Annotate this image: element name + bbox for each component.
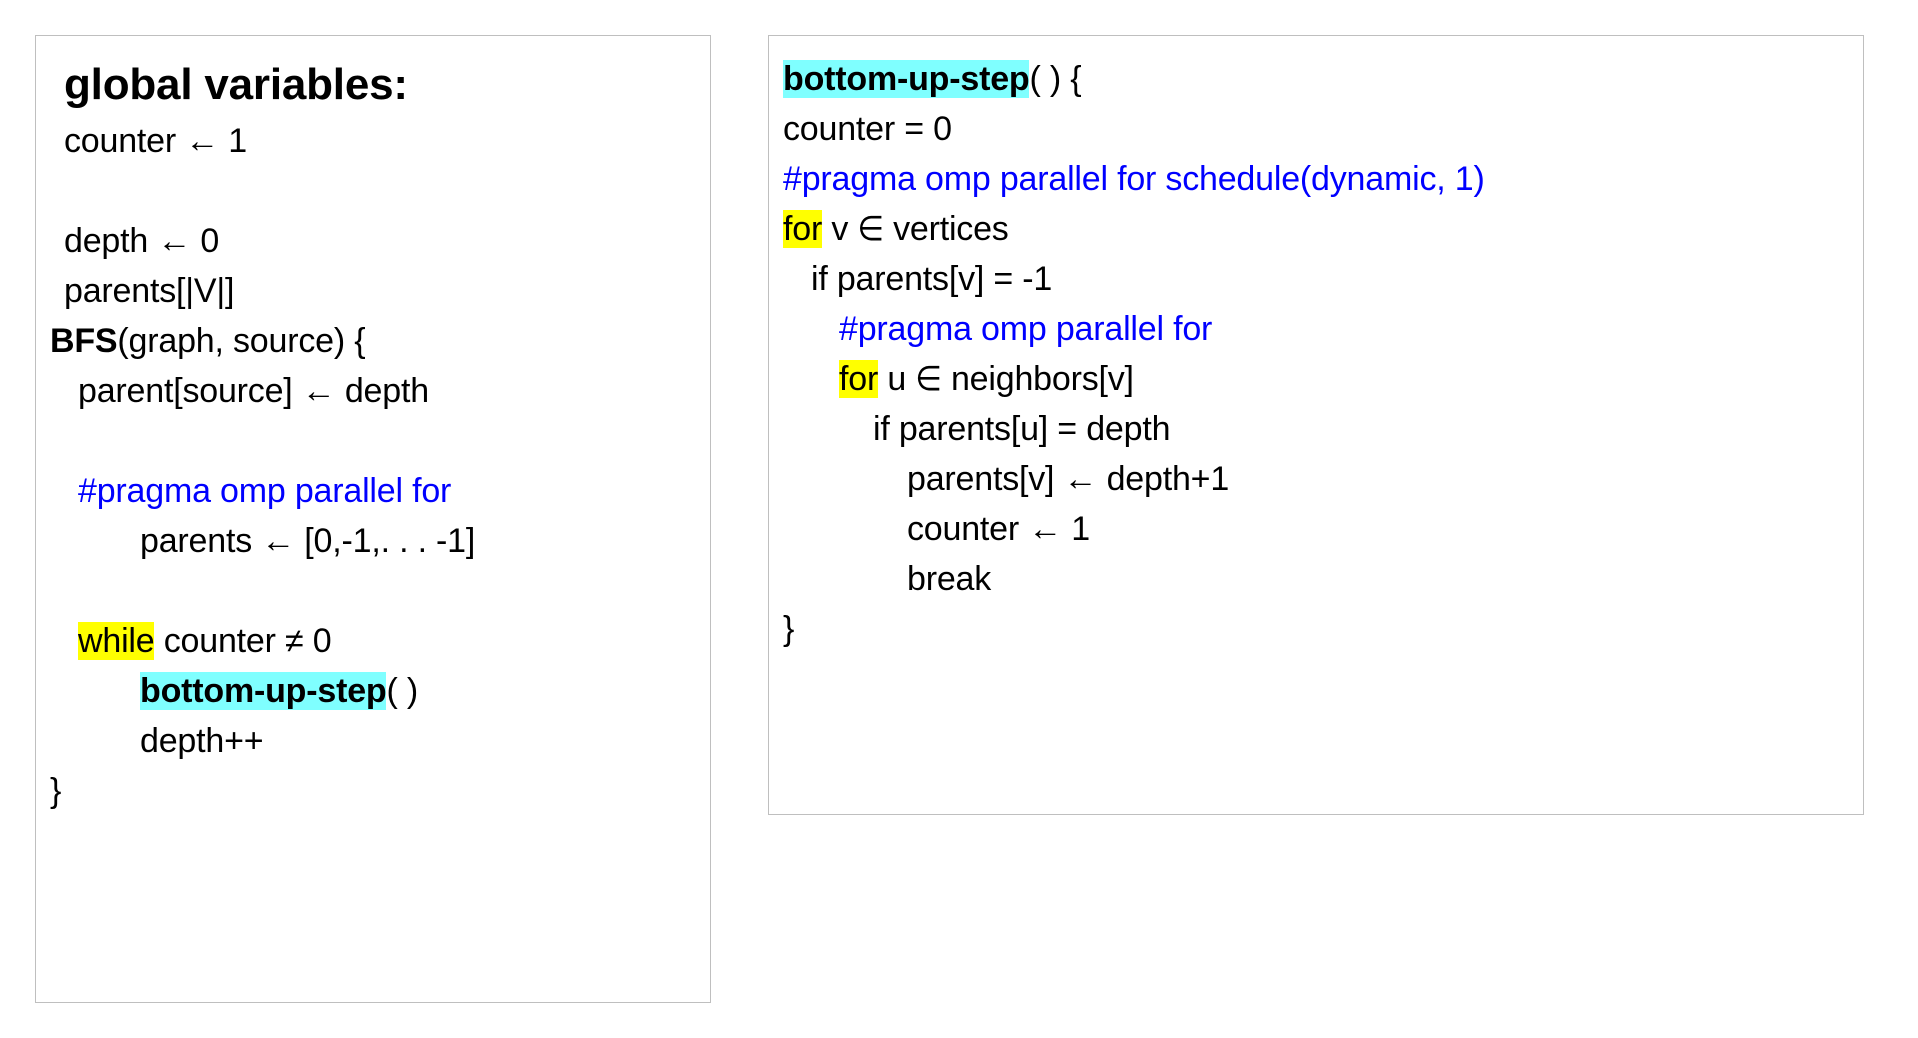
code-token: parent[source] ← depth: [78, 372, 429, 410]
code-line: break: [783, 554, 1853, 604]
bottom-up-step-code-block: bottom-up-step( ) {counter = 0#pragma om…: [769, 36, 1863, 664]
code-line: parents ← [0,-1,. . . -1]: [50, 516, 700, 566]
code-token: counter = 0: [783, 110, 952, 148]
code-line: }: [50, 766, 700, 816]
slide-root: global variables:counter ← 1 depth ← 0pa…: [0, 0, 1918, 1038]
code-line: depth++: [50, 716, 700, 766]
code-token: parents ← [0,-1,. . . -1]: [140, 522, 475, 560]
code-line: for v ∈ vertices: [783, 204, 1853, 254]
code-line: for u ∈ neighbors[v]: [783, 354, 1853, 404]
code-line: if parents[v] = -1: [783, 254, 1853, 304]
code-token: depth ← 0: [64, 222, 219, 260]
code-token: bottom-up-step: [783, 60, 1029, 98]
bfs-code-block: global variables:counter ← 1 depth ← 0pa…: [36, 36, 710, 826]
code-token: counter ← 1: [64, 122, 247, 160]
code-token: depth++: [140, 722, 263, 760]
code-line: parents[|V|]: [50, 266, 700, 316]
code-token: #pragma omp parallel for schedule(dynami…: [783, 160, 1485, 198]
code-line: [50, 566, 700, 616]
code-token: for: [783, 210, 822, 248]
code-token: bottom-up-step: [140, 672, 386, 710]
code-line: while counter ≠ 0: [50, 616, 700, 666]
code-line: #pragma omp parallel for: [50, 466, 700, 516]
code-token: BFS: [50, 322, 117, 360]
code-token: counter ← 1: [907, 510, 1090, 548]
code-token: #pragma omp parallel for: [839, 310, 1212, 348]
code-line: counter ← 1: [50, 116, 700, 166]
code-line: depth ← 0: [50, 216, 700, 266]
bottom-up-step-pseudocode-panel: bottom-up-step( ) {counter = 0#pragma om…: [768, 35, 1864, 815]
code-token: break: [907, 560, 991, 598]
code-line: global variables:: [50, 54, 700, 116]
code-token: ( ) {: [1029, 60, 1081, 98]
code-line: BFS(graph, source) {: [50, 316, 700, 366]
code-line: [50, 416, 700, 466]
code-line: counter = 0: [783, 104, 1853, 154]
code-line: parents[v] ← depth+1: [783, 454, 1853, 504]
code-line: parent[source] ← depth: [50, 366, 700, 416]
code-token: }: [783, 610, 794, 648]
code-token: for: [839, 360, 878, 398]
bfs-pseudocode-panel: global variables:counter ← 1 depth ← 0pa…: [35, 35, 711, 1003]
code-token: if parents[u] = depth: [873, 410, 1170, 448]
code-line: }: [783, 604, 1853, 654]
code-line: bottom-up-step( ): [50, 666, 700, 716]
code-line: #pragma omp parallel for schedule(dynami…: [783, 154, 1853, 204]
code-token: parents[v] ← depth+1: [907, 460, 1229, 498]
code-token: if parents[v] = -1: [811, 260, 1052, 298]
code-token: ( ): [386, 672, 418, 710]
code-token: }: [50, 772, 61, 810]
code-token: counter ≠ 0: [154, 622, 331, 660]
code-token: (graph, source) {: [117, 322, 365, 360]
code-line: [50, 166, 700, 216]
code-line: counter ← 1: [783, 504, 1853, 554]
code-line: bottom-up-step( ) {: [783, 54, 1853, 104]
code-token: global variables:: [64, 60, 408, 109]
code-token: parents[|V|]: [64, 272, 234, 310]
code-token: while: [78, 622, 154, 660]
code-token: u ∈ neighbors[v]: [878, 360, 1134, 398]
code-token: #pragma omp parallel for: [78, 472, 451, 510]
code-line: #pragma omp parallel for: [783, 304, 1853, 354]
code-line: if parents[u] = depth: [783, 404, 1853, 454]
code-token: v ∈ vertices: [822, 210, 1009, 248]
